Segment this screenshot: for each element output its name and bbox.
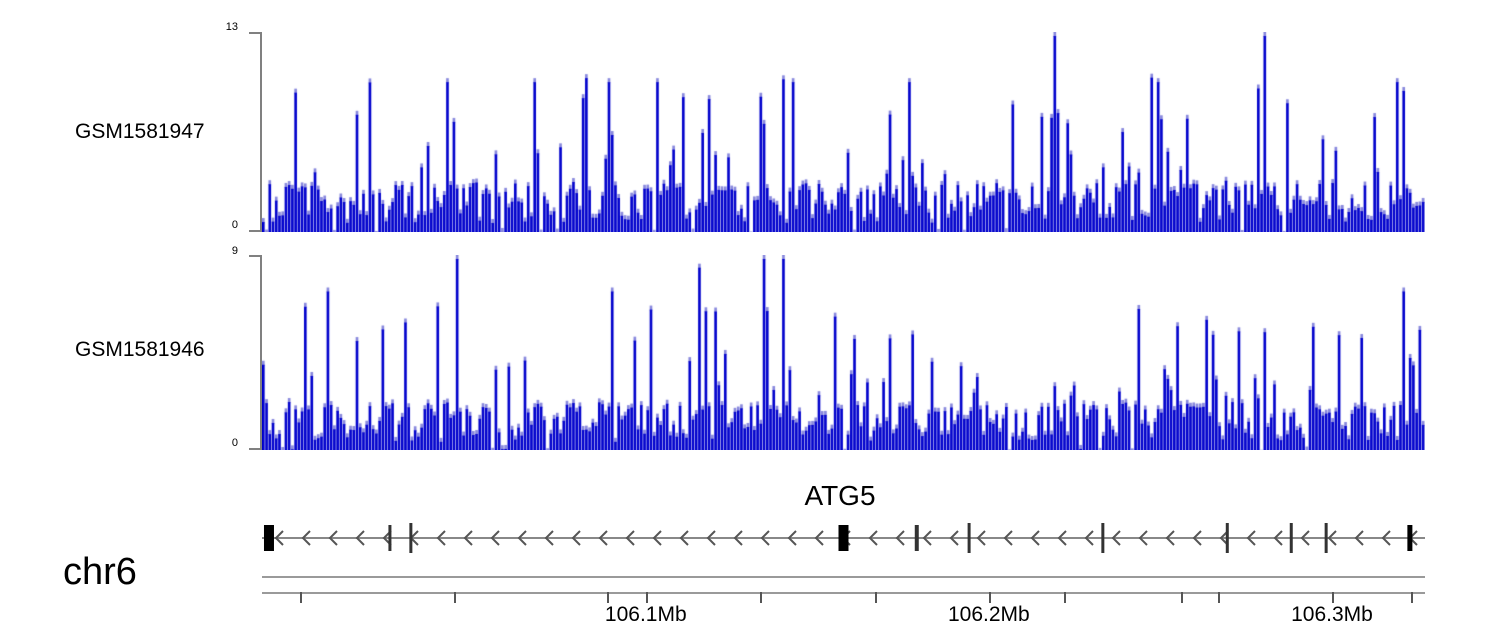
coverage-track-gsm1581947[interactable] bbox=[262, 32, 1425, 232]
y-axis-tick-top bbox=[249, 32, 262, 34]
axis-tick bbox=[1181, 592, 1183, 603]
axis-tick-label-0: 106.1Mb bbox=[605, 603, 687, 627]
y-axis-tick-top bbox=[249, 255, 262, 257]
axis-tick bbox=[1332, 592, 1334, 603]
track-1-y-max-label: 13 bbox=[198, 21, 238, 33]
exon-block bbox=[264, 525, 274, 551]
y-axis-tick-bottom bbox=[249, 448, 262, 450]
track-1-y-axis bbox=[248, 32, 262, 232]
genome-browser: GSM1581947 13 0 GSM1581946 9 0 ATG5 106.… bbox=[0, 0, 1500, 640]
axis-tick bbox=[454, 592, 456, 603]
exon-tick bbox=[409, 523, 412, 553]
track-label-gsm1581946: GSM1581946 bbox=[75, 338, 205, 362]
chromosome-label: chr6 bbox=[63, 551, 137, 594]
exon-tick bbox=[968, 523, 971, 553]
exon-tick bbox=[1290, 523, 1293, 553]
axis-tick bbox=[607, 592, 609, 603]
track-2-y-min-label: 0 bbox=[198, 437, 238, 449]
coverage-plot-canvas bbox=[262, 255, 1425, 450]
exon-tick bbox=[1226, 523, 1229, 553]
exon-tick bbox=[1101, 523, 1104, 553]
gene-track-baseline bbox=[262, 576, 1425, 578]
exon-block bbox=[1407, 525, 1412, 551]
axis-tick bbox=[989, 592, 991, 603]
axis-tick bbox=[1064, 592, 1066, 603]
axis-tick bbox=[646, 592, 648, 603]
coverage-plot-canvas bbox=[262, 32, 1425, 232]
axis-tick-label-1: 106.2Mb bbox=[948, 603, 1030, 627]
axis-tick bbox=[875, 592, 877, 603]
track-2-y-axis bbox=[248, 255, 262, 450]
coverage-track-gsm1581946[interactable] bbox=[262, 255, 1425, 450]
coordinate-axis-labels: 106.1Mb106.2Mb106.3Mb bbox=[262, 603, 1425, 633]
gene-label-atg5[interactable]: ATG5 bbox=[804, 480, 875, 512]
gene-annotation-track[interactable]: ATG5 bbox=[262, 480, 1425, 555]
exon-tick bbox=[915, 525, 919, 551]
axis-tick bbox=[760, 592, 762, 603]
axis-tick bbox=[1218, 592, 1220, 603]
axis-tick bbox=[1411, 592, 1413, 603]
exon-tick bbox=[1325, 523, 1328, 553]
exon-tick bbox=[388, 525, 391, 551]
y-axis-tick-bottom bbox=[249, 230, 262, 232]
axis-tick-label-2: 106.3Mb bbox=[1291, 603, 1373, 627]
gene-model-svg bbox=[262, 518, 1425, 558]
exon-block bbox=[839, 525, 849, 551]
axis-tick bbox=[300, 592, 302, 603]
track-1-y-min-label: 0 bbox=[198, 219, 238, 231]
track-2-y-max-label: 9 bbox=[198, 245, 238, 257]
track-label-gsm1581947: GSM1581947 bbox=[75, 120, 205, 144]
